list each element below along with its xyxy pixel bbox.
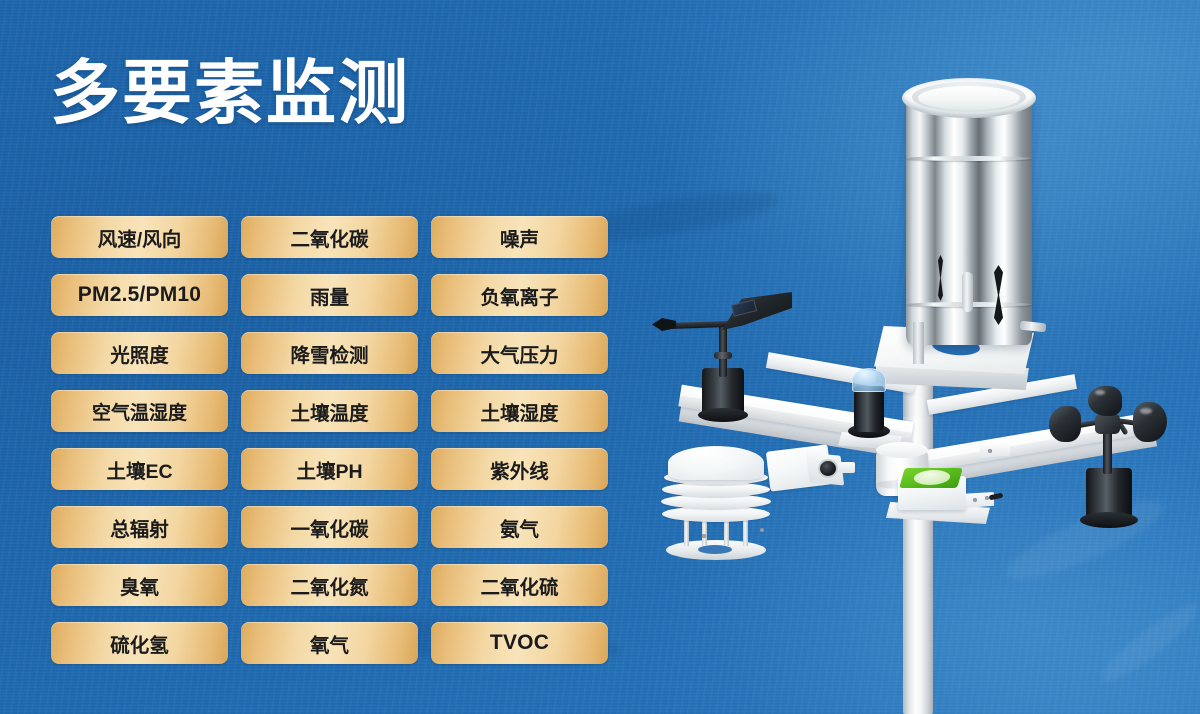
wind-vane-shaft [719, 325, 727, 377]
bolt [973, 498, 977, 502]
junction-box-connector [818, 459, 838, 478]
tag-carbon-monoxide[interactable]: 一氧化碳 [241, 506, 418, 548]
pyranometer-dome [852, 368, 886, 392]
multi-element-weather-station-image [640, 50, 1200, 714]
radiation-shield-leg [724, 518, 729, 546]
wind-vane-base-flange [698, 408, 748, 422]
rain-gauge-funnel [918, 86, 1020, 110]
tag-total-radiation[interactable]: 总辐射 [51, 506, 228, 548]
anemometer-cup-highlight [1140, 408, 1152, 414]
tag-noise[interactable]: 噪声 [431, 216, 608, 258]
tag-hydrogen-sulfide[interactable]: 硫化氢 [51, 622, 228, 664]
wind-vane-collar [714, 352, 732, 359]
radiation-shield-legs [682, 518, 750, 546]
tag-oxygen[interactable]: 氧气 [241, 622, 418, 664]
wind-vane-nose [652, 318, 676, 331]
sensor-canister-top [876, 442, 928, 458]
bolt [988, 449, 992, 453]
radiation-shield-leg [743, 518, 748, 546]
radiation-shield-leg [684, 518, 689, 546]
tag-wind-speed-direction[interactable]: 风速/风向 [51, 216, 228, 258]
rain-gauge-band-upper [906, 156, 1032, 161]
page-title: 多要素监测 [50, 58, 410, 128]
bolt [760, 528, 764, 532]
tag-tvoc[interactable]: TVOC [431, 622, 608, 664]
tag-negative-oxygen-ions[interactable]: 负氧离子 [431, 274, 608, 316]
tag-soil-temperature[interactable]: 土壤温度 [241, 390, 418, 432]
tag-nitrogen-dioxide[interactable]: 二氧化氮 [241, 564, 418, 606]
anemometer-cup-highlight [1095, 390, 1105, 395]
monitoring-parameter-grid: 风速/风向 二氧化碳 噪声 PM2.5/PM10 雨量 负氧离子 光照度 降雪检… [51, 216, 608, 664]
pyranometer-body [854, 386, 884, 432]
tag-ammonia[interactable]: 氨气 [431, 506, 608, 548]
tag-pm25-pm10[interactable]: PM2.5/PM10 [51, 274, 228, 316]
tag-soil-moisture[interactable]: 土壤湿度 [431, 390, 608, 432]
rain-gauge-latch [962, 272, 973, 312]
rain-gauge-bracket [913, 322, 924, 364]
tag-carbon-dioxide[interactable]: 二氧化碳 [241, 216, 418, 258]
tag-illuminance[interactable]: 光照度 [51, 332, 228, 374]
radiation-shield-dome [668, 446, 764, 480]
anemometer-cup [1049, 406, 1081, 442]
anemometer-shaft [1103, 428, 1112, 474]
tag-atmospheric-pressure[interactable]: 大气压力 [431, 332, 608, 374]
anemometer-hub [1095, 414, 1120, 434]
tag-air-temperature-humidity[interactable]: 空气温湿度 [51, 390, 228, 432]
anemometer-base-flange [1080, 512, 1138, 528]
tag-ultraviolet[interactable]: 紫外线 [431, 448, 608, 490]
tag-soil-ec[interactable]: 土壤EC [51, 448, 228, 490]
junction-box-stub [839, 462, 855, 473]
bolt [702, 534, 706, 538]
anemometer-cup [1088, 386, 1122, 416]
radiation-shield-leg [702, 518, 707, 546]
radiation-shield-foot-hole [698, 545, 732, 554]
tag-snowfall-detection[interactable]: 降雪检测 [241, 332, 418, 374]
tag-sulfur-dioxide[interactable]: 二氧化硫 [431, 564, 608, 606]
tag-rainfall[interactable]: 雨量 [241, 274, 418, 316]
tag-ozone[interactable]: 臭氧 [51, 564, 228, 606]
tag-soil-ph[interactable]: 土壤PH [241, 448, 418, 490]
